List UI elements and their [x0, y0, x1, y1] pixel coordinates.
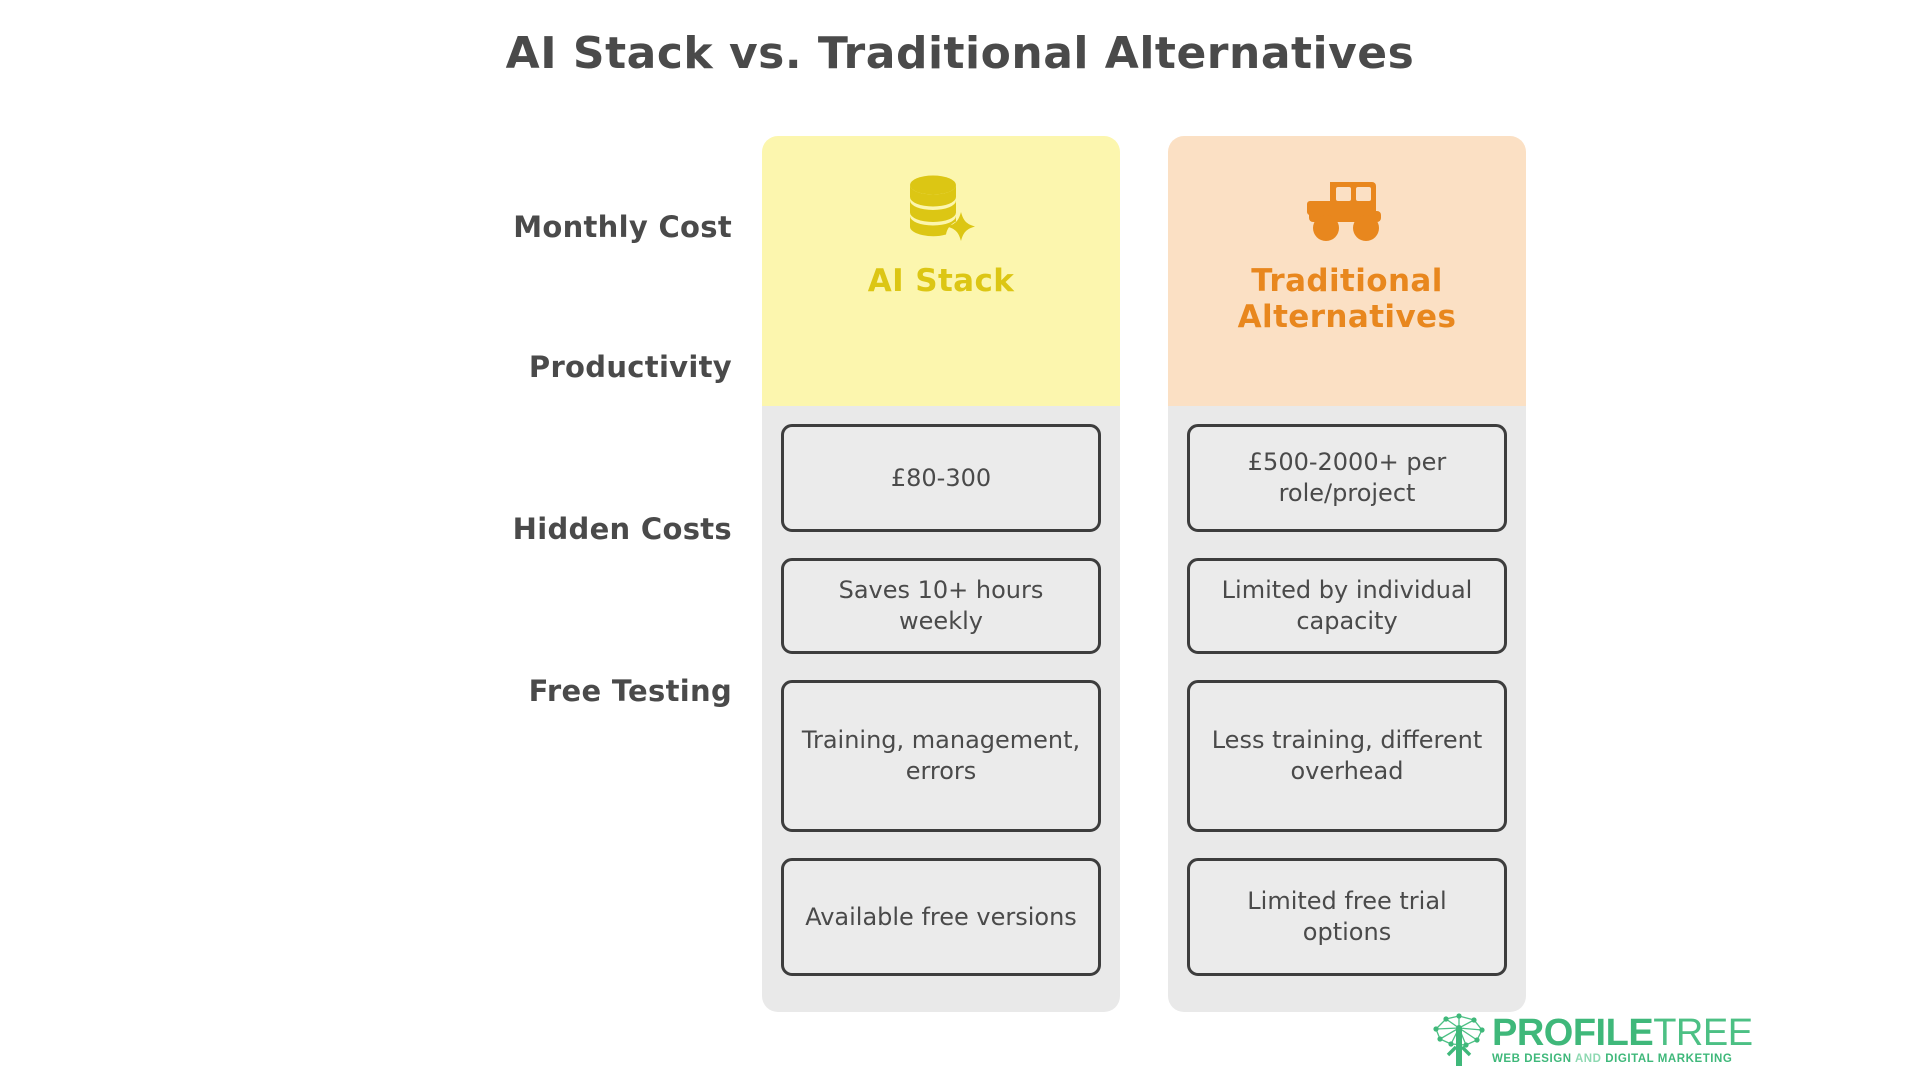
column-header-ai-stack: AI Stack: [762, 136, 1120, 406]
row-label-free-testing: Free Testing: [529, 674, 732, 708]
comparison-table: Monthly Cost Productivity Hidden Costs F…: [0, 136, 1920, 1016]
column-title-traditional: Traditional Alternatives: [1168, 264, 1526, 335]
cell-trad-productivity: Limited by individual capacity: [1187, 558, 1507, 654]
logo-tagline-part2: DIGITAL MARKETING: [1605, 1053, 1732, 1065]
column-body-traditional: £500-2000+ per role/project Limited by i…: [1168, 406, 1526, 1012]
page-title: AI Stack vs. Traditional Alternatives: [0, 28, 1920, 79]
cell-ai-hidden-costs: Training, management, errors: [781, 680, 1101, 832]
cell-trad-free-testing: Limited free trial options: [1187, 858, 1507, 976]
column-traditional-alternatives: Traditional Alternatives £500-2000+ per …: [1168, 136, 1526, 1012]
logo-word-tree: TREE: [1653, 1012, 1752, 1054]
column-header-traditional: Traditional Alternatives: [1168, 136, 1526, 406]
network-tree-icon: [1430, 1011, 1488, 1069]
logo-tagline: WEB DESIGN AND DIGITAL MARKETING: [1492, 1053, 1753, 1065]
cell-ai-productivity: Saves 10+ hours weekly: [781, 558, 1101, 654]
row-label-column: Monthly Cost Productivity Hidden Costs F…: [330, 136, 750, 1016]
database-sparkle-icon: [901, 166, 981, 250]
logo-tagline-part1: WEB DESIGN: [1492, 1053, 1572, 1065]
cell-ai-free-testing: Available free versions: [781, 858, 1101, 976]
column-title-ai-stack: AI Stack: [854, 264, 1029, 300]
row-label-productivity: Productivity: [529, 350, 732, 384]
cell-ai-monthly-cost: £80-300: [781, 424, 1101, 532]
cell-trad-hidden-costs: Less training, different overhead: [1187, 680, 1507, 832]
vintage-car-icon: [1304, 166, 1390, 250]
logo-word-profile: PROFILE: [1492, 1012, 1653, 1054]
row-label-monthly-cost: Monthly Cost: [513, 210, 732, 244]
profiletree-logo: PROFILETREE WEB DESIGN AND DIGITAL MARKE…: [1430, 1008, 1730, 1072]
column-ai-stack: AI Stack £80-300 Saves 10+ hours weekly …: [762, 136, 1120, 1012]
infographic-page: AI Stack vs. Traditional Alternatives Mo…: [0, 0, 1920, 1080]
row-label-hidden-costs: Hidden Costs: [513, 512, 732, 546]
column-body-ai-stack: £80-300 Saves 10+ hours weekly Training,…: [762, 406, 1120, 1012]
logo-text: PROFILETREE WEB DESIGN AND DIGITAL MARKE…: [1492, 1015, 1753, 1065]
logo-tagline-and: AND: [1572, 1053, 1606, 1065]
logo-wordmark: PROFILETREE: [1492, 1015, 1753, 1052]
cell-trad-monthly-cost: £500-2000+ per role/project: [1187, 424, 1507, 532]
